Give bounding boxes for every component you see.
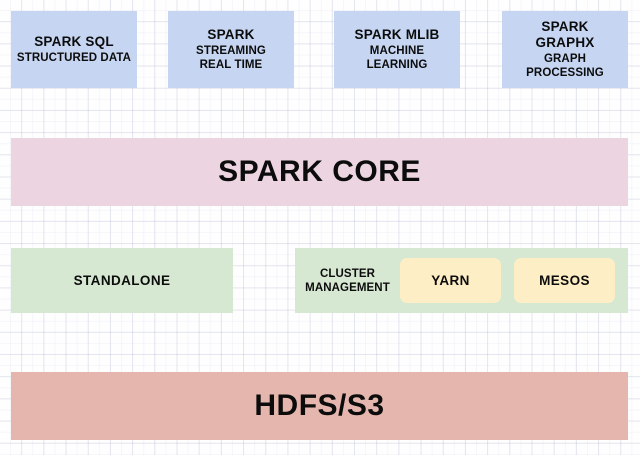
spark-core-band[interactable]: SPARK CORE xyxy=(11,138,628,206)
component-subtitle: STRUCTURED DATA xyxy=(17,51,131,65)
component-title: SPARK SQL xyxy=(34,34,114,50)
component-box-spark-sql[interactable]: SPARK SQL STRUCTURED DATA xyxy=(11,11,137,88)
cluster-manager-mesos[interactable]: MESOS xyxy=(514,258,615,303)
component-subtitle: MACHINE LEARNING xyxy=(367,44,428,72)
standalone-box[interactable]: STANDALONE xyxy=(11,248,233,313)
cluster-manager-label: MESOS xyxy=(539,273,590,288)
component-title: SPARK xyxy=(207,27,254,43)
spark-core-label: SPARK CORE xyxy=(218,155,421,189)
storage-band[interactable]: HDFS/S3 xyxy=(11,372,628,440)
component-subtitle: STREAMING REAL TIME xyxy=(196,44,266,72)
standalone-label: STANDALONE xyxy=(74,273,171,288)
component-box-spark-mlib[interactable]: SPARK MLIB MACHINE LEARNING xyxy=(334,11,460,88)
cluster-management-label: CLUSTER MANAGEMENT xyxy=(300,248,395,313)
component-box-spark-streaming[interactable]: SPARK STREAMING REAL TIME xyxy=(168,11,294,88)
cluster-manager-label: YARN xyxy=(431,273,470,288)
component-subtitle: GRAPH PROCESSING xyxy=(526,52,604,80)
cluster-manager-yarn[interactable]: YARN xyxy=(400,258,501,303)
spark-stack-diagram: SPARK SQL STRUCTURED DATA SPARK STREAMIN… xyxy=(0,0,640,455)
component-title: SPARK GRAPHX xyxy=(536,19,595,51)
component-title: SPARK MLIB xyxy=(355,27,440,43)
component-box-spark-graphx[interactable]: SPARK GRAPHX GRAPH PROCESSING xyxy=(502,11,628,88)
storage-label: HDFS/S3 xyxy=(254,389,384,423)
